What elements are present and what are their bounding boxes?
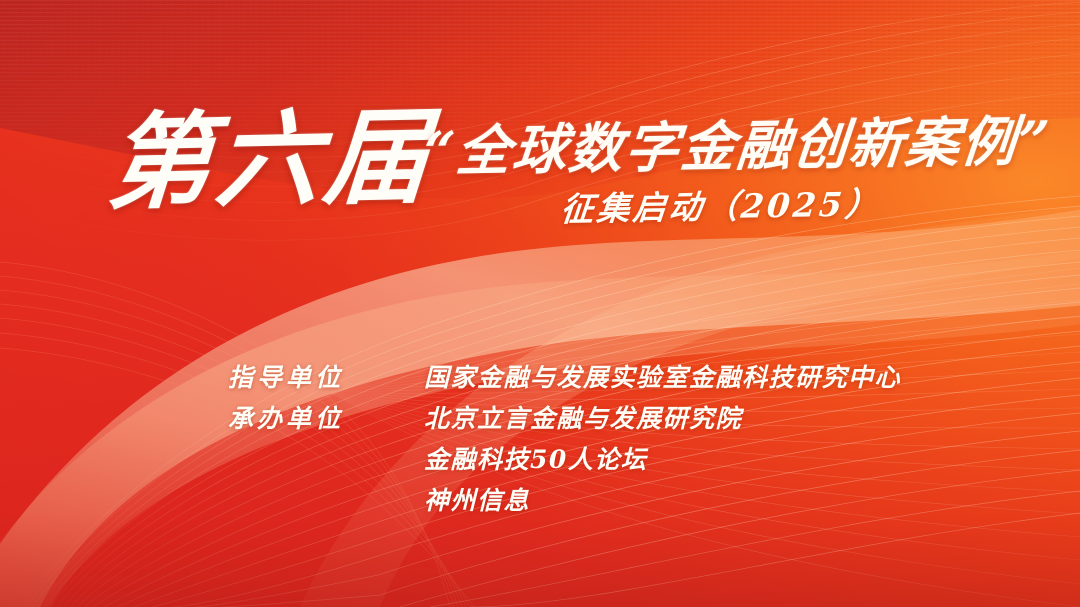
title-block: 第六届 “全球数字金融创新案例” 征集启动（2025） [0, 0, 1080, 250]
credit-label-organizer: 承办单位 [228, 399, 424, 435]
poster-canvas: 第六届 “全球数字金融创新案例” 征集启动（2025） 指导单位 国家金融与发展… [0, 0, 1080, 607]
credit-row: 承办单位 北京立言金融与发展研究院 [228, 399, 988, 440]
credit-row: 神州信息 [228, 481, 988, 522]
credit-value-organizer-2: 金融科技50人论坛 [424, 440, 647, 476]
page-subtitle: 征集启动（2025） [559, 187, 882, 226]
credit-label-guidance: 指导单位 [228, 358, 424, 394]
page-title-main: 第六届 [104, 105, 435, 216]
page-title-quoted: “全球数字金融创新案例” [421, 114, 1053, 179]
credit-value-organizer-3: 神州信息 [424, 481, 530, 517]
credits-block: 指导单位 国家金融与发展实验室金融科技研究中心 承办单位 北京立言金融与发展研究… [228, 358, 988, 522]
credit-row: 指导单位 国家金融与发展实验室金融科技研究中心 [228, 358, 988, 399]
credit-value-organizer: 北京立言金融与发展研究院 [424, 399, 742, 435]
credit-row: 金融科技50人论坛 [228, 440, 988, 481]
credit-value-guidance: 国家金融与发展实验室金融科技研究中心 [424, 358, 901, 394]
